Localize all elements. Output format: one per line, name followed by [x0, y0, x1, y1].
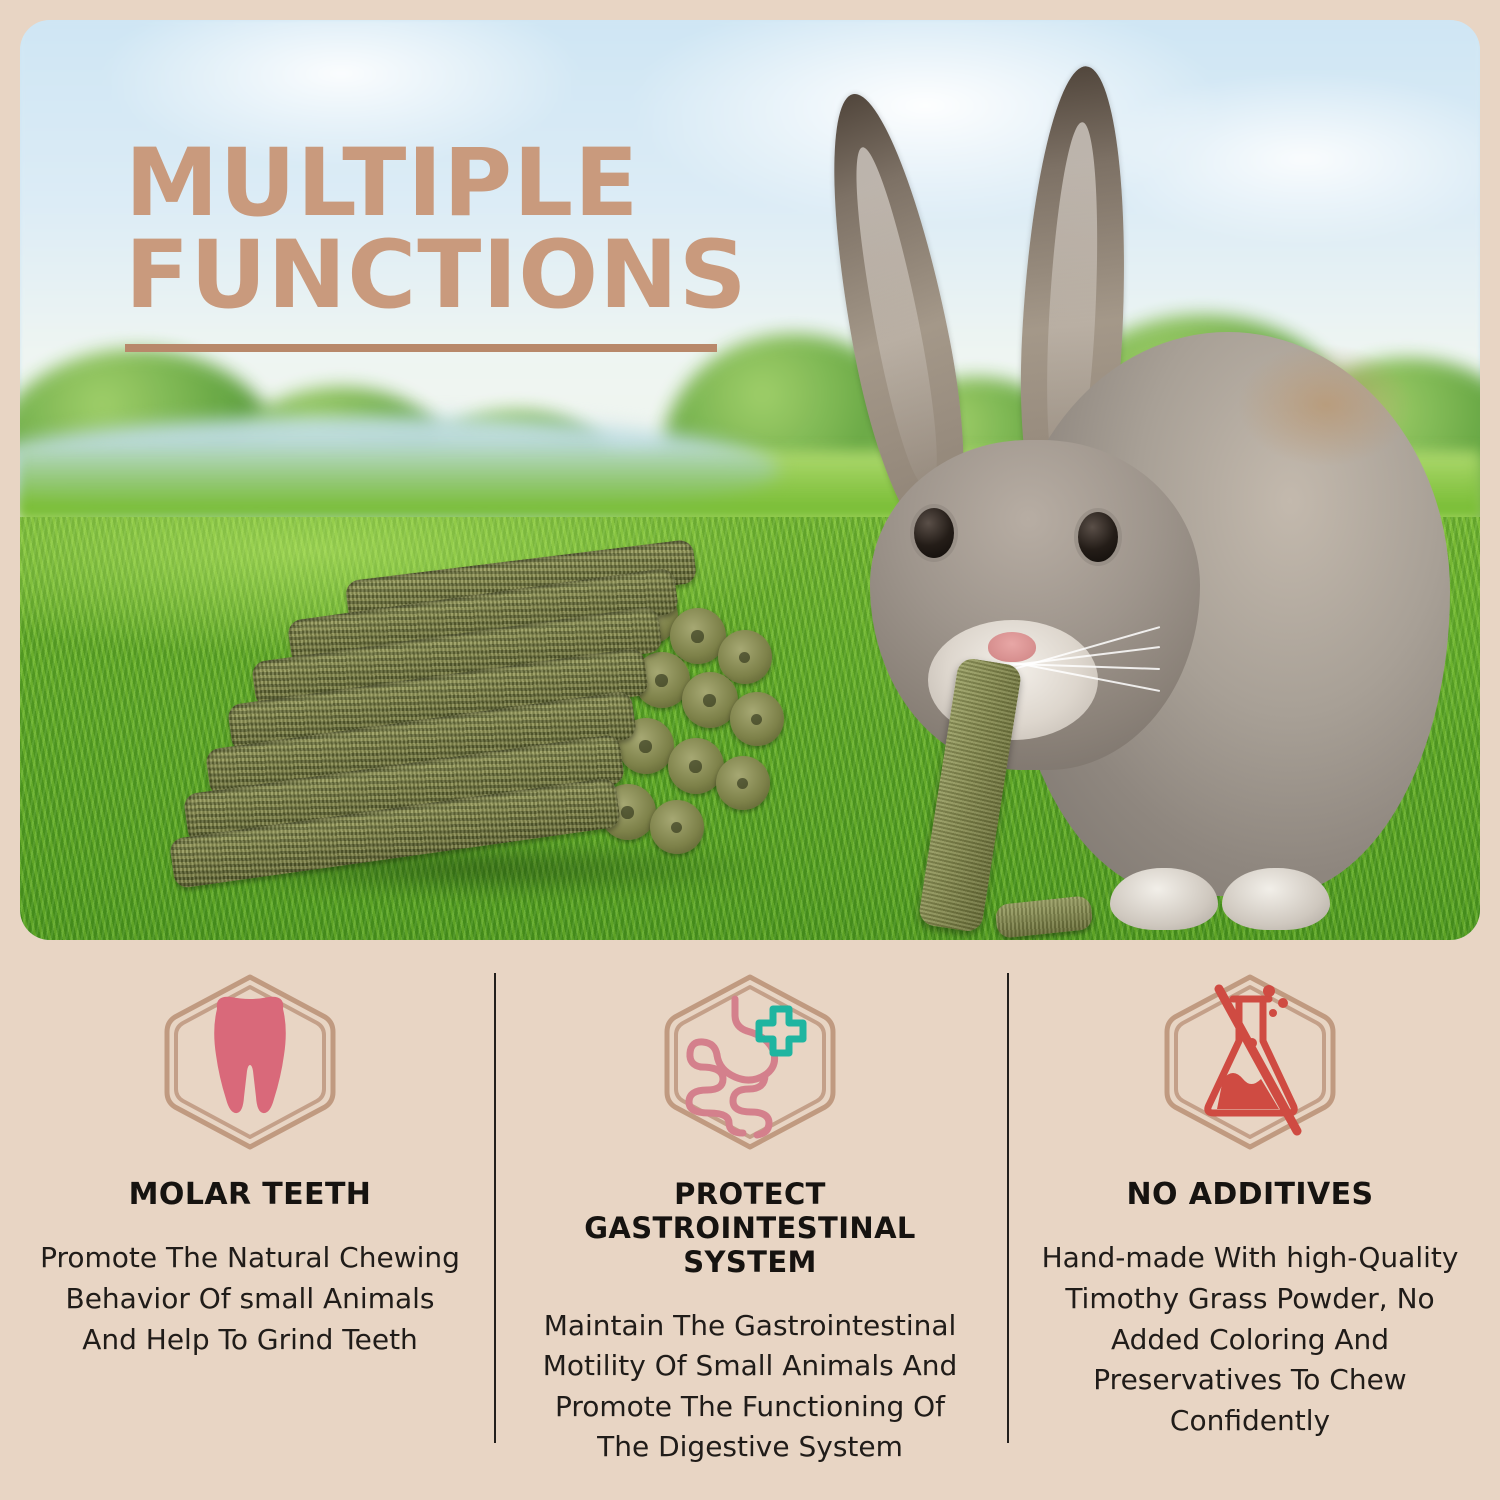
- stick-end: [650, 800, 704, 854]
- feature-row: MOLAR TEETH Promote The Natural Chewing …: [0, 965, 1500, 1465]
- no-chemicals-flask-icon: [1157, 969, 1343, 1155]
- hero-photo-panel: MULTIPLE FUNCTIONS: [20, 20, 1480, 940]
- rabbit-eye-left: [914, 508, 954, 558]
- stick-end: [730, 692, 784, 746]
- stomach-intestine-icon: [657, 969, 843, 1155]
- rabbit-front-paw-right: [1222, 868, 1330, 930]
- stick-end: [716, 756, 770, 810]
- rabbit-front-paw-left: [1110, 868, 1218, 930]
- rabbit-eye-right: [1078, 512, 1118, 562]
- rabbit-body-highlight: [1237, 343, 1415, 467]
- feature-body: Maintain The Gastrointestinal Motility O…: [535, 1306, 965, 1468]
- chew-stick-on-grass: [994, 895, 1093, 939]
- feature-column-molar-teeth: MOLAR TEETH Promote The Natural Chewing …: [0, 965, 500, 1465]
- feature-body: Hand-made With high-Quality Timothy Gras…: [1035, 1238, 1465, 1441]
- hero-title-underline: [125, 344, 717, 352]
- feature-title: NO ADDITIVES: [1127, 1177, 1374, 1212]
- feature-title-line-2: GASTROINTESTINAL SYSTEM: [526, 1211, 974, 1279]
- feature-column-gastrointestinal: PROTECT GASTROINTESTINAL SYSTEM Maintain…: [500, 965, 1000, 1465]
- feature-title: PROTECT GASTROINTESTINAL SYSTEM: [526, 1177, 974, 1280]
- hero-title-block: MULTIPLE FUNCTIONS: [125, 138, 748, 352]
- hero-title-line-2: FUNCTIONS: [125, 230, 748, 322]
- chew-stick-pile: [170, 542, 800, 902]
- feature-column-no-additives: NO ADDITIVES Hand-made With high-Quality…: [1000, 965, 1500, 1465]
- hero-title-line-1: MULTIPLE: [125, 138, 748, 230]
- rabbit-ear-inner: [841, 143, 950, 487]
- stick-end: [718, 630, 772, 684]
- feature-body: Promote The Natural Chewing Behavior Of …: [35, 1238, 465, 1360]
- feature-title-line-1: PROTECT: [526, 1177, 974, 1211]
- feature-title: MOLAR TEETH: [129, 1177, 372, 1212]
- tooth-icon: [157, 969, 343, 1155]
- rabbit-photo-subject: [810, 60, 1450, 940]
